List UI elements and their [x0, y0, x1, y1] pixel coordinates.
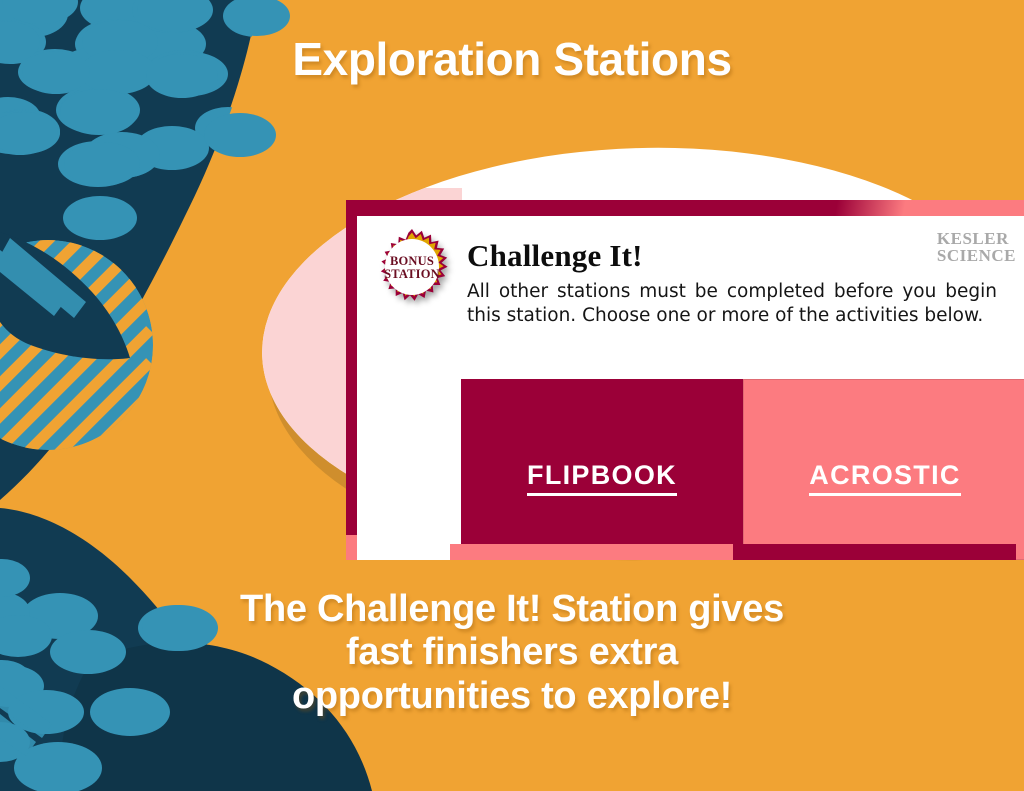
button-base-strip-right — [733, 544, 1016, 560]
card-left-border — [346, 200, 357, 535]
card-left-border-foot — [346, 535, 357, 560]
caption-line-2: fast finishers extra — [0, 631, 1024, 674]
caption-line-1: The Challenge It! Station gives — [0, 588, 1024, 631]
promo-graphic: Exploration Stations BONUS STATI — [0, 0, 1024, 791]
activity-button-acrostic[interactable]: ACROSTIC — [743, 379, 1024, 560]
logo-line-1: KESLER — [937, 230, 1016, 247]
page-title: Exploration Stations — [0, 32, 1024, 86]
kesler-science-logo: KESLER SCIENCE — [937, 230, 1016, 264]
activity-button-row: FLIPBOOK ACROSTIC — [461, 379, 1024, 560]
worksheet-instructions: All other stations must be completed bef… — [467, 280, 997, 327]
activity-button-flipbook[interactable]: FLIPBOOK — [461, 379, 743, 560]
card-body: BONUS STATION Challenge It! All other st… — [357, 216, 1024, 560]
bonus-station-seal-icon: BONUS STATION — [374, 228, 450, 308]
card-top-border — [346, 200, 1024, 216]
promo-caption: The Challenge It! Station gives fast fin… — [0, 588, 1024, 718]
activity-button-acrostic-label: ACROSTIC — [809, 460, 960, 496]
logo-line-2: SCIENCE — [937, 247, 1016, 264]
activity-button-flipbook-label: FLIPBOOK — [527, 460, 677, 496]
button-base-strip-left — [450, 544, 733, 560]
worksheet-card: BONUS STATION Challenge It! All other st… — [346, 200, 1024, 560]
caption-line-3: opportunities to explore! — [0, 675, 1024, 718]
worksheet-heading: Challenge It! — [467, 238, 643, 274]
